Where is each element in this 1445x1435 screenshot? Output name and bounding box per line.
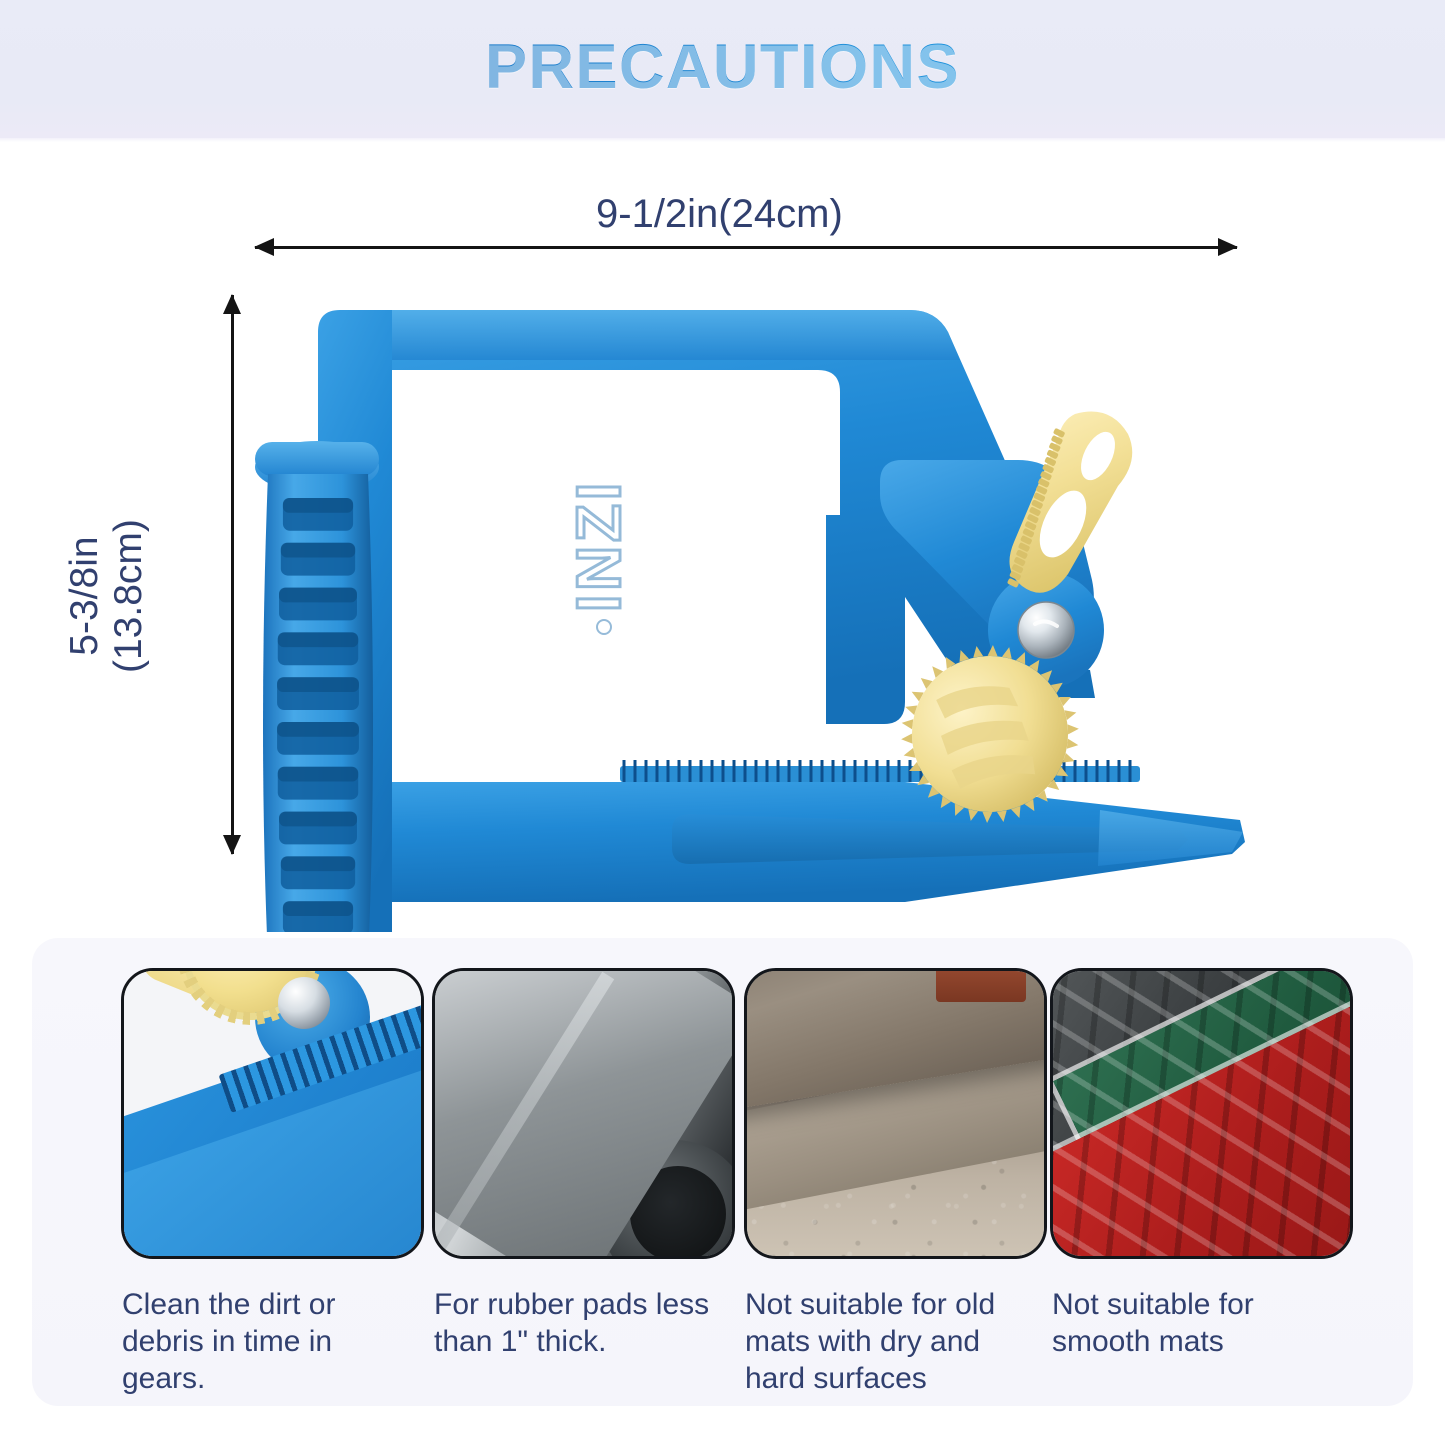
old-mat-photo-background-object <box>936 968 1026 1002</box>
precaution-caption-1: Clean the dirt or debris in time in gear… <box>122 1286 412 1398</box>
precaution-thumbnail-gear <box>121 968 424 1259</box>
brand-emboss: INZI <box>565 479 634 612</box>
gear-photo-chrome-rivet <box>278 977 330 1029</box>
precaution-caption-4: Not suitable for smooth mats <box>1052 1286 1342 1360</box>
precautions-panel: Clean the dirt or debris in time in gear… <box>32 938 1413 1406</box>
precaution-thumbnail-old-mat <box>744 968 1047 1259</box>
product-diagram: 9-1/2in(24cm) 5-3/8in (13.8cm) 1-3/4in (… <box>0 142 1445 932</box>
precaution-caption-2: For rubber pads less than 1" thick. <box>434 1286 724 1360</box>
page-title: PRECAUTIONS <box>0 31 1445 103</box>
precaution-thumbnail-rubber-sheet <box>432 968 735 1259</box>
precaution-caption-3: Not suitable for old mats with dry and h… <box>745 1286 1035 1398</box>
product-illustration: INZI <box>0 142 1445 932</box>
precaution-thumbnail-diamond-mats <box>1050 968 1353 1259</box>
header-band: PRECAUTIONS <box>0 0 1445 138</box>
